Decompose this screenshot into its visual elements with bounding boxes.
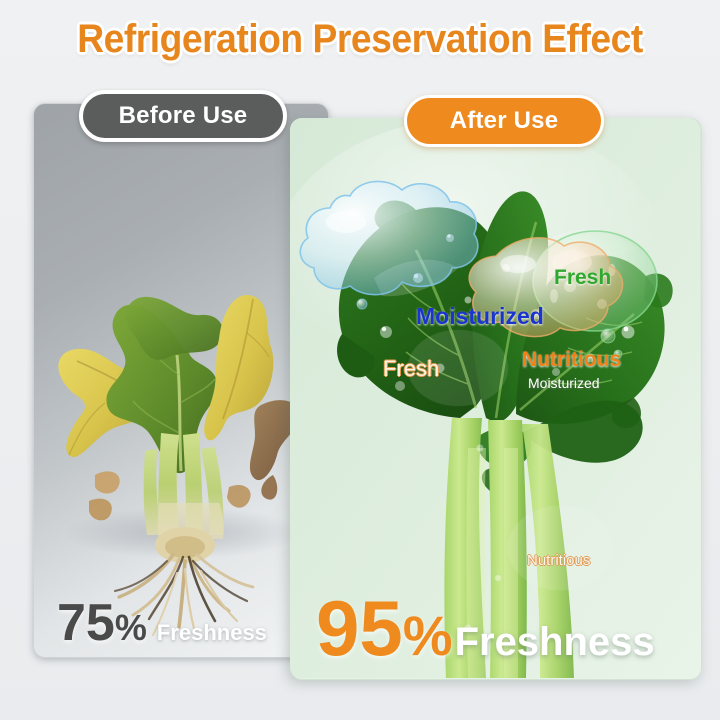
wilted-vegetable-image bbox=[33, 103, 327, 656]
bubble-label-fresh: Fresh bbox=[554, 266, 611, 290]
bubble-label-moisturized: Moisturized bbox=[416, 303, 544, 330]
before-freshness-number: 75 bbox=[57, 597, 115, 649]
product-comparison-graphic: Refrigeration Preservation Effect bbox=[0, 0, 720, 720]
after-freshness-stat: 95 % Freshness bbox=[316, 589, 655, 667]
bubble-label-nutritious: Nutritious bbox=[522, 348, 621, 372]
after-percent-sign: % bbox=[403, 608, 453, 664]
after-freshness-label: Freshness bbox=[455, 620, 655, 665]
after-use-badge-label: After Use bbox=[450, 107, 559, 135]
before-percent-sign: % bbox=[115, 610, 147, 646]
before-use-badge-label: Before Use bbox=[119, 102, 248, 130]
page-title: Refrigeration Preservation Effect bbox=[25, 17, 695, 62]
after-use-badge: After Use bbox=[404, 95, 604, 147]
watermark-fresh: Fresh bbox=[383, 356, 439, 382]
after-freshness-number: 95 bbox=[316, 589, 403, 667]
bubble-sublabel-moisturized: Moisturized bbox=[528, 375, 600, 391]
before-freshness-stat: 75 % Freshness bbox=[57, 597, 267, 649]
watermark-nutritious: Nutritious bbox=[527, 552, 590, 569]
before-use-badge: Before Use bbox=[79, 90, 287, 142]
before-freshness-label: Freshness bbox=[157, 620, 267, 646]
